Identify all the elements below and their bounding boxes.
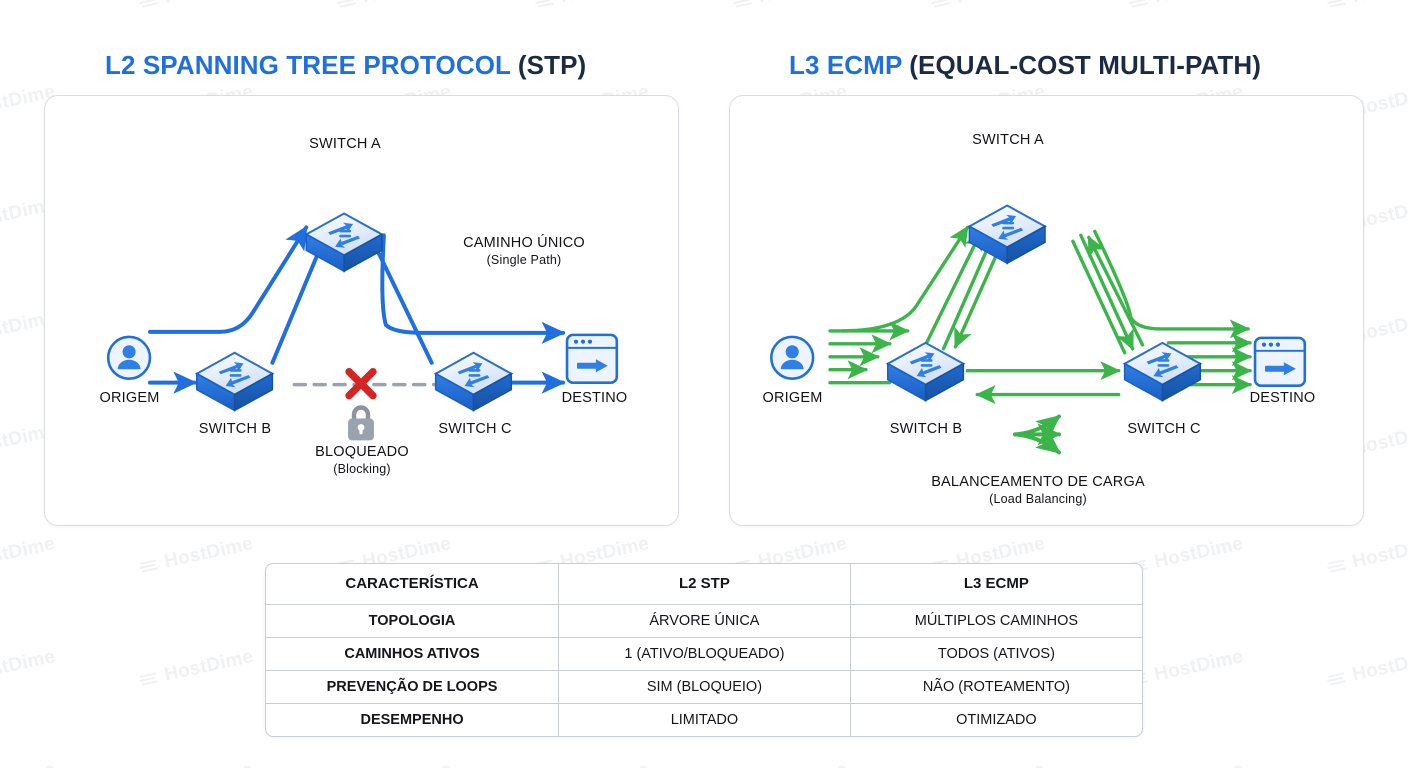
watermark-hostdime: HostDime (1325, 646, 1408, 692)
row-feature: TOPOLOGIA (266, 604, 559, 637)
watermark-hostdime: HostDime (731, 0, 849, 14)
origem-user-icon (771, 337, 813, 379)
watermark-text: HostDime (756, 759, 849, 768)
hostdime-logo-icon (138, 556, 161, 576)
table-row: PREVENÇÃO DE LOOPS SIM (BLOQUEIO) NÃO (R… (266, 670, 1142, 703)
watermark-text: HostDime (162, 759, 255, 768)
switch-c-icon (436, 353, 512, 411)
watermark-text: HostDime (1350, 646, 1408, 686)
watermark-hostdime: HostDime (1127, 0, 1245, 14)
row-feature: DESEMPENHO (266, 703, 559, 736)
watermark-text: HostDime (360, 759, 453, 768)
left-title-primary: L2 SPANNING TREE PROTOCOL (105, 50, 511, 80)
right-title-secondary: (EQUAL-COST MULTI-PATH) (909, 50, 1261, 80)
ecmp-load-balancing-title: BALANCEAMENTO DE CARGA (910, 474, 1166, 490)
watermark-hostdime: HostDime (137, 759, 255, 768)
hostdime-logo-icon (1128, 0, 1151, 11)
watermark-text: HostDime (162, 0, 255, 8)
left-panel-title: L2 SPANNING TREE PROTOCOL (STP) (105, 50, 586, 81)
watermark-text: HostDime (1152, 0, 1245, 8)
hostdime-logo-icon (732, 0, 755, 11)
origem-user-icon (108, 337, 150, 379)
watermark-hostdime: HostDime (0, 646, 57, 692)
switch-a-icon (306, 213, 382, 271)
row-stp-value: SIM (BLOQUEIO) (559, 670, 851, 703)
left-title-secondary: (STP) (518, 50, 586, 80)
table-header-row: CARACTERÍSTICA L2 STP L3 ECMP (266, 564, 1142, 604)
table-header-ecmp: L3 ECMP (850, 564, 1142, 604)
hostdime-logo-icon (1326, 556, 1349, 576)
watermark-hostdime: HostDime (335, 759, 453, 768)
ecmp-load-balancing-sub: (Load Balancing) (910, 492, 1166, 506)
ecmp-switch-b-label: SWITCH B (868, 421, 984, 437)
ecmp-switch-a-label: SWITCH A (950, 132, 1066, 148)
stp-diagram-panel: SWITCH A SWITCH B SWITCH C ORIGEM DESTIN… (44, 95, 679, 526)
table-header-stp: L2 STP (559, 564, 851, 604)
watermark-text: HostDime (558, 0, 651, 8)
row-ecmp-value: OTIMIZADO (850, 703, 1142, 736)
stp-blocked-title: BLOQUEADO (291, 444, 433, 460)
right-title-primary: L3 ECMP (789, 50, 902, 80)
stp-blocked-sub: (Blocking) (291, 462, 433, 476)
hostdime-logo-icon (138, 669, 161, 689)
row-stp-value: LIMITADO (559, 703, 851, 736)
row-stp-value: 1 (ATIVO/BLOQUEADO) (559, 637, 851, 670)
watermark-hostdime: HostDime (1127, 759, 1245, 768)
hostdime-logo-icon (930, 0, 953, 11)
ecmp-origem-label: ORIGEM (735, 390, 850, 406)
watermark-hostdime: HostDime (137, 533, 255, 579)
stp-switch-a-label: SWITCH A (287, 136, 403, 152)
watermark-text: HostDime (1350, 759, 1408, 768)
row-ecmp-value: MÚLTIPLOS CAMINHOS (850, 604, 1142, 637)
load-balancing-fan-icon (1015, 417, 1059, 453)
switch-c-icon (1125, 343, 1201, 401)
watermark-text: HostDime (954, 759, 1047, 768)
watermark-hostdime: HostDime (1325, 533, 1408, 579)
comparison-table: CARACTERÍSTICA L2 STP L3 ECMP TOPOLOGIA … (265, 563, 1143, 737)
watermark-text: HostDime (360, 0, 453, 8)
watermark-text: HostDime (1350, 533, 1408, 573)
switch-b-icon (197, 353, 273, 411)
watermark-text: HostDime (0, 646, 57, 686)
table-header-feature: CARACTERÍSTICA (266, 564, 559, 604)
watermark-hostdime: HostDime (1325, 759, 1408, 768)
ecmp-destino-label: DESTINO (1225, 390, 1340, 406)
watermark-hostdime: HostDime (137, 0, 255, 14)
stp-switch-c-label: SWITCH C (417, 421, 533, 437)
stp-single-path-title: CAMINHO ÚNICO (431, 235, 617, 251)
watermark-hostdime: HostDime (0, 533, 57, 579)
watermark-text: HostDime (162, 533, 255, 573)
watermark-hostdime: HostDime (0, 759, 57, 768)
watermark-hostdime: HostDime (929, 759, 1047, 768)
switch-a-icon (969, 205, 1045, 263)
stp-diagram-svg (45, 96, 678, 525)
ecmp-diagram-panel: SWITCH A SWITCH B SWITCH C ORIGEM DESTIN… (729, 95, 1364, 526)
watermark-hostdime: HostDime (731, 759, 849, 768)
watermark-text: HostDime (1350, 0, 1408, 8)
watermark-hostdime: HostDime (1127, 533, 1245, 579)
stp-destino-label: DESTINO (537, 390, 652, 406)
watermark-hostdime: HostDime (137, 646, 255, 692)
switch-b-icon (888, 343, 964, 401)
watermark-hostdime: HostDime (335, 0, 453, 14)
watermark-hostdime: HostDime (0, 0, 57, 14)
watermark-text: HostDime (0, 0, 57, 8)
row-ecmp-value: TODOS (ATIVOS) (850, 637, 1142, 670)
watermark-text: HostDime (1152, 533, 1245, 573)
table-row: TOPOLOGIA ÁRVORE ÚNICA MÚLTIPLOS CAMINHO… (266, 604, 1142, 637)
watermark-text: HostDime (954, 0, 1047, 8)
destino-browser-icon (1255, 338, 1305, 386)
watermark-text: HostDime (0, 759, 57, 768)
infographic-root: HostDimeHostDimeHostDimeHostDimeHostDime… (0, 0, 1408, 768)
table-row: DESEMPENHO LIMITADO OTIMIZADO (266, 703, 1142, 736)
watermark-hostdime: HostDime (929, 0, 1047, 14)
watermark-text: HostDime (1152, 646, 1245, 686)
watermark-hostdime: HostDime (1325, 0, 1408, 14)
watermark-text: HostDime (0, 533, 57, 573)
row-stp-value: ÁRVORE ÚNICA (559, 604, 851, 637)
table-row: CAMINHOS ATIVOS 1 (ATIVO/BLOQUEADO) TODO… (266, 637, 1142, 670)
ecmp-diagram-svg (730, 96, 1363, 525)
hostdime-logo-icon (1326, 669, 1349, 689)
row-ecmp-value: NÃO (ROTEAMENTO) (850, 670, 1142, 703)
watermark-text: HostDime (558, 759, 651, 768)
hostdime-logo-icon (138, 0, 161, 11)
right-panel-title: L3 ECMP (EQUAL-COST MULTI-PATH) (789, 50, 1261, 81)
stp-origem-label: ORIGEM (72, 390, 187, 406)
watermark-text: HostDime (1152, 759, 1245, 768)
watermark-hostdime: HostDime (1127, 646, 1245, 692)
stp-switch-b-label: SWITCH B (177, 421, 293, 437)
watermark-text: HostDime (162, 646, 255, 686)
hostdime-logo-icon (534, 0, 557, 11)
hostdime-logo-icon (1326, 0, 1349, 11)
watermark-hostdime: HostDime (533, 0, 651, 14)
row-feature: PREVENÇÃO DE LOOPS (266, 670, 559, 703)
watermark-hostdime: HostDime (533, 759, 651, 768)
row-feature: CAMINHOS ATIVOS (266, 637, 559, 670)
destino-browser-icon (567, 335, 617, 383)
hostdime-logo-icon (336, 0, 359, 11)
watermark-text: HostDime (756, 0, 849, 8)
ecmp-switch-c-label: SWITCH C (1106, 421, 1222, 437)
stp-single-path-sub: (Single Path) (431, 253, 617, 267)
